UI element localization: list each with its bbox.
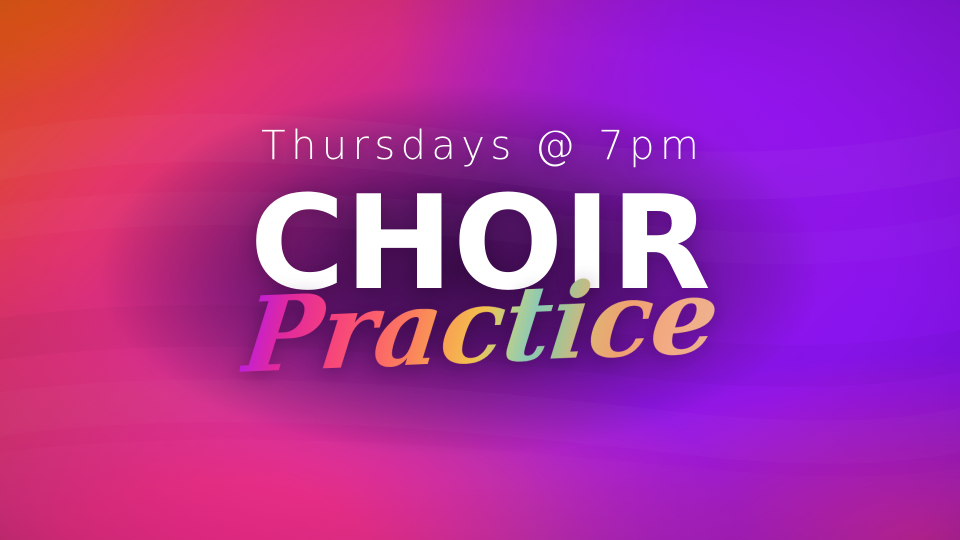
poster-content: Thursdays @ 7pm CHOIR Practice — [0, 0, 960, 540]
event-time-text: Thursdays @ 7pm — [0, 126, 960, 166]
poster-canvas: Thursdays @ 7pm CHOIR Practice — [0, 0, 960, 540]
poster-subtitle-wrapper: Practice — [0, 274, 960, 378]
poster-subtitle-script: Practice — [237, 264, 723, 388]
